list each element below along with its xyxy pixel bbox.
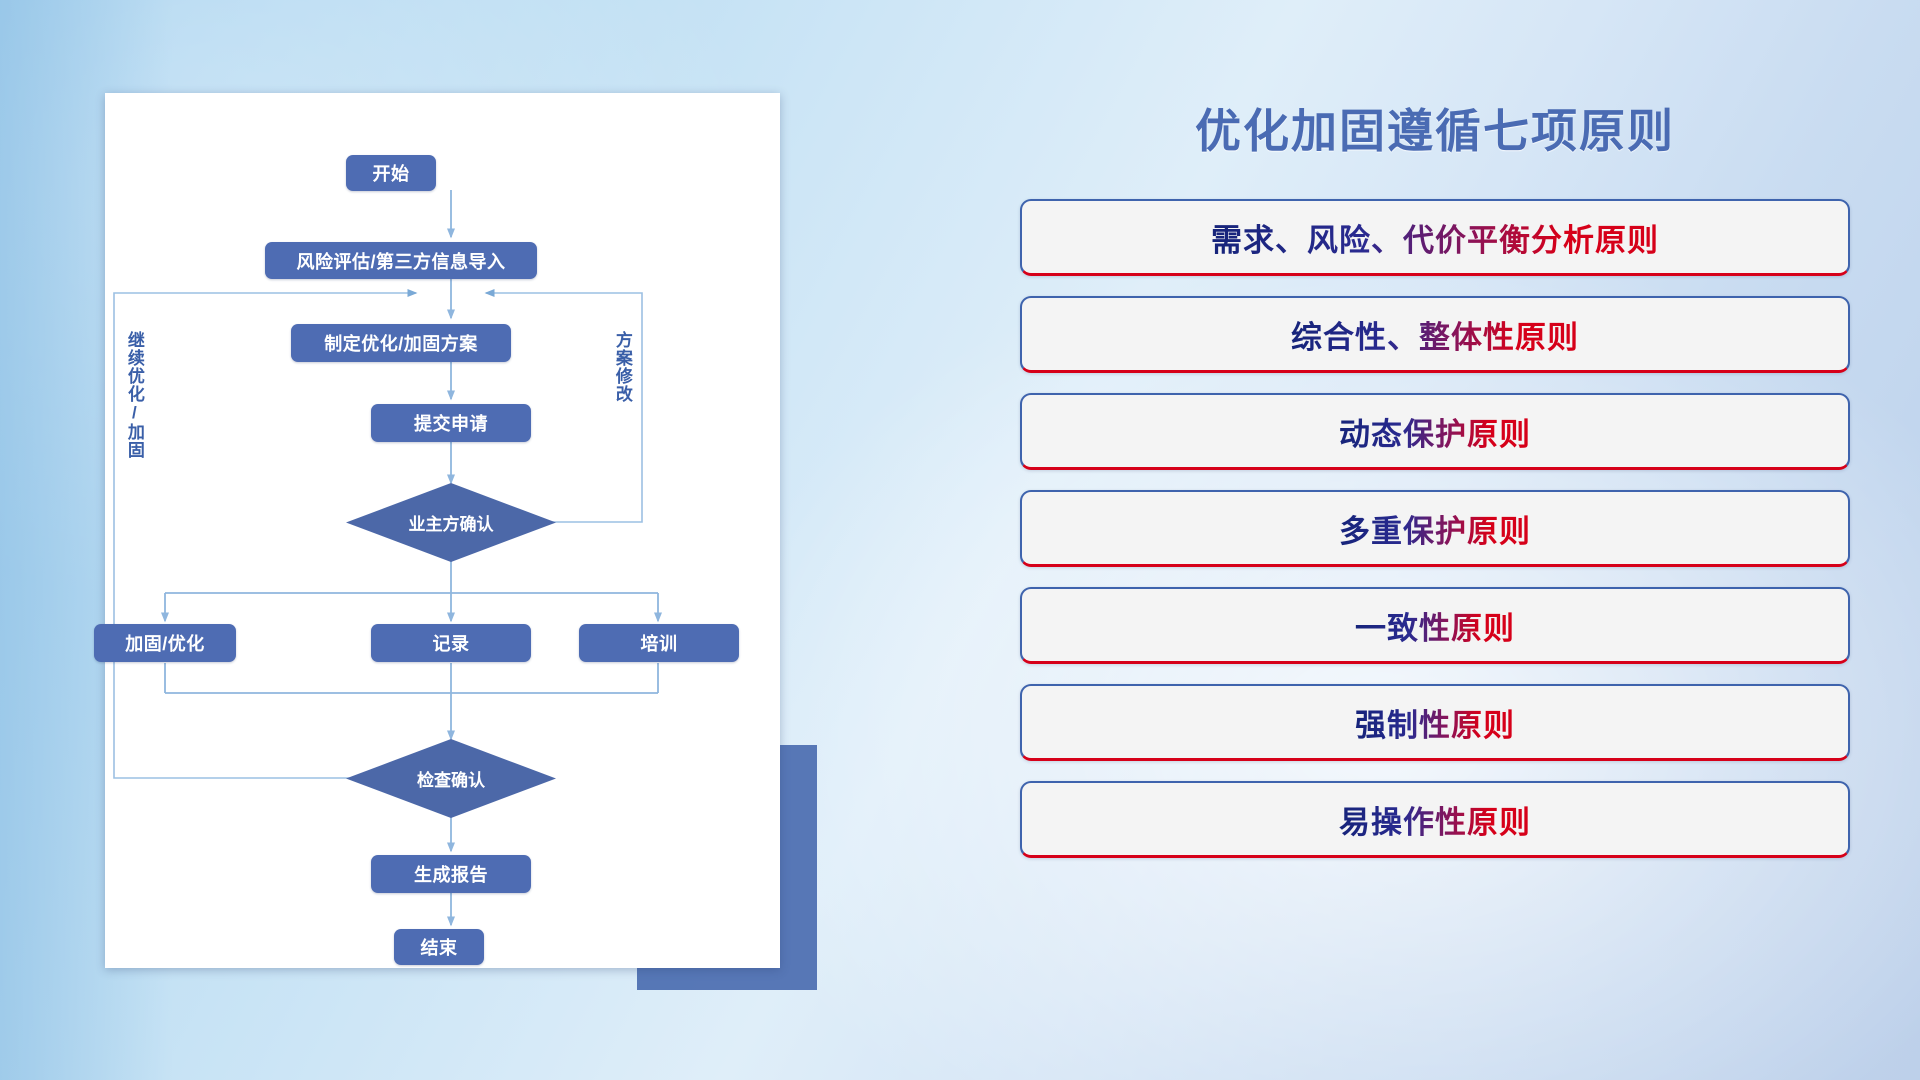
principle-label: 需求、风险、代价平衡分析原则 xyxy=(1211,215,1659,260)
principle-card[interactable]: 强制性原则 xyxy=(1020,684,1850,761)
flow-node-label: 培训 xyxy=(641,630,678,656)
flow-node-label: 加固/优化 xyxy=(125,630,205,656)
flow-node-plan[interactable]: 制定优化/加固方案 xyxy=(291,324,511,362)
principle-card[interactable]: 动态保护原则 xyxy=(1020,393,1850,470)
flow-node-reinforce[interactable]: 加固/优化 xyxy=(94,624,236,662)
principle-label: 多重保护原则 xyxy=(1339,506,1531,551)
principle-label: 综合性、整体性原则 xyxy=(1291,312,1579,357)
principles-list: 需求、风险、代价平衡分析原则 综合性、整体性原则 动态保护原则 多重保护原则 一… xyxy=(1020,199,1850,858)
flow-node-record[interactable]: 记录 xyxy=(371,624,531,662)
principle-label: 强制性原则 xyxy=(1355,700,1515,745)
flow-node-generate-report[interactable]: 生成报告 xyxy=(371,855,531,893)
flow-node-end[interactable]: 结束 xyxy=(394,929,484,965)
flow-node-owner-confirm[interactable]: 业主方确认 xyxy=(346,483,556,562)
principle-label: 易操作性原则 xyxy=(1339,797,1531,842)
flow-node-submit[interactable]: 提交申请 xyxy=(371,404,531,442)
flow-node-label: 风险评估/第三方信息导入 xyxy=(297,248,506,274)
loop-label-continue-optimize: 继续优化/加固 xyxy=(125,331,143,459)
flow-node-label: 检查确认 xyxy=(417,766,485,791)
flow-node-check-confirm[interactable]: 检查确认 xyxy=(346,739,556,818)
principle-card[interactable]: 一致性原则 xyxy=(1020,587,1850,664)
loop-label-plan-revision: 方案修改 xyxy=(613,331,631,403)
flow-node-start[interactable]: 开始 xyxy=(346,155,436,191)
principle-card[interactable]: 需求、风险、代价平衡分析原则 xyxy=(1020,199,1850,276)
flow-node-risk-assessment[interactable]: 风险评估/第三方信息导入 xyxy=(265,242,537,279)
flow-node-label: 结束 xyxy=(421,934,458,960)
flow-node-label: 记录 xyxy=(433,630,470,656)
principle-label: 动态保护原则 xyxy=(1339,409,1531,454)
principle-label: 一致性原则 xyxy=(1355,603,1515,648)
flow-node-label: 提交申请 xyxy=(414,410,488,436)
principles-panel: 优化加固遵循七项原则 需求、风险、代价平衡分析原则 综合性、整体性原则 动态保护… xyxy=(1020,95,1850,1015)
flow-node-training[interactable]: 培训 xyxy=(579,624,739,662)
principles-title: 优化加固遵循七项原则 xyxy=(1020,95,1850,161)
flowchart-card: 开始 风险评估/第三方信息导入 制定优化/加固方案 提交申请 业主方确认 加固/… xyxy=(105,93,780,968)
flow-node-label: 生成报告 xyxy=(414,861,488,887)
flow-node-label: 开始 xyxy=(373,160,410,186)
flow-node-label: 业主方确认 xyxy=(409,510,494,535)
principle-card[interactable]: 多重保护原则 xyxy=(1020,490,1850,567)
flow-node-label: 制定优化/加固方案 xyxy=(324,330,478,356)
principle-card[interactable]: 综合性、整体性原则 xyxy=(1020,296,1850,373)
principle-card[interactable]: 易操作性原则 xyxy=(1020,781,1850,858)
